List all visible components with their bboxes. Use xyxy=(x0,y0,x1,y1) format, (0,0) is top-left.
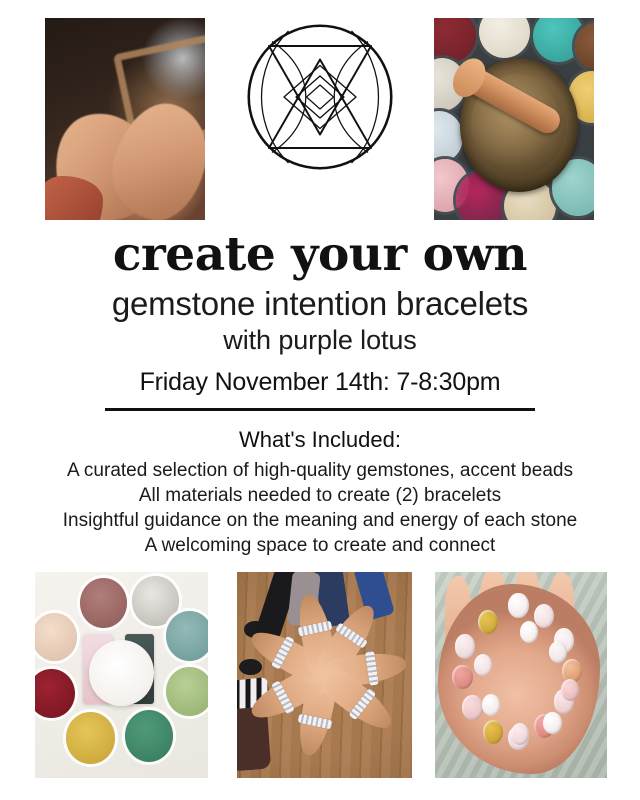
flyer-canvas: create your own gemstone intention brace… xyxy=(0,0,640,800)
bead-jar xyxy=(166,611,208,660)
photo-singing-bowl-art xyxy=(434,18,594,220)
bracelet-band xyxy=(365,651,379,685)
logo-diamond-small xyxy=(307,85,334,109)
gem-bead xyxy=(511,723,529,745)
gem-bead xyxy=(534,604,554,628)
bead-jar xyxy=(35,669,75,718)
gem-bead xyxy=(462,695,482,719)
photo-hands-circle-art xyxy=(237,572,412,778)
list-item: Insightful guidance on the meaning and e… xyxy=(0,508,640,533)
subheadline: gemstone intention bracelets xyxy=(0,286,640,322)
bracelet-band xyxy=(271,680,295,714)
gem-bead xyxy=(455,634,475,658)
bracelet-band xyxy=(271,636,295,670)
accent-bead-dish xyxy=(89,640,155,706)
list-item: A welcoming space to create and connect xyxy=(0,533,640,558)
list-item: All materials needed to create (2) brace… xyxy=(0,483,640,508)
gem-bead xyxy=(549,641,567,663)
top-photo-row xyxy=(0,0,640,222)
bracelet-band xyxy=(335,623,368,649)
bracelet-ring-inner xyxy=(480,630,576,741)
bead-jar xyxy=(166,667,208,716)
bracelet-band xyxy=(297,621,331,637)
gem-bead xyxy=(543,712,561,734)
bead-jar xyxy=(125,710,173,762)
brand-logo xyxy=(245,22,395,172)
presenter-line: with purple lotus xyxy=(0,326,640,356)
bracelet-band xyxy=(297,713,331,729)
gem-bead xyxy=(478,610,498,634)
whats-included-list: A curated selection of high-quality gems… xyxy=(0,458,640,558)
bead-pot xyxy=(434,111,463,164)
shoe-shape xyxy=(239,659,262,675)
logo-diamond-large xyxy=(284,66,356,129)
headline: create your own xyxy=(0,231,640,278)
photo-singing-bowl xyxy=(434,18,594,220)
bead-pot xyxy=(434,18,476,62)
bead-jar xyxy=(66,712,114,764)
photo-hands-circle xyxy=(237,572,412,778)
event-datetime: Friday November 14th: 7-8:30pm xyxy=(0,369,640,397)
gem-bead xyxy=(561,679,579,701)
gem-bead xyxy=(474,654,492,676)
gem-bead xyxy=(452,665,472,689)
gem-bead xyxy=(520,621,538,643)
gem-bead xyxy=(508,593,528,617)
bead-pot xyxy=(479,18,530,58)
photo-hands-beading-art xyxy=(45,18,205,220)
list-item: A curated selection of high-quality gems… xyxy=(0,458,640,483)
photo-bracelet-palm-art xyxy=(435,572,607,778)
section-divider xyxy=(105,408,535,411)
bead-jar xyxy=(35,613,77,660)
photo-bracelet-palm xyxy=(435,572,607,778)
whats-included-title: What's Included: xyxy=(0,427,640,453)
bracelet-band xyxy=(348,688,376,720)
photo-bead-jars-art xyxy=(35,572,208,778)
bead-jar xyxy=(80,578,127,627)
photo-bead-jars xyxy=(35,572,208,778)
photo-hands-beading xyxy=(45,18,205,220)
gem-bead xyxy=(482,694,500,716)
